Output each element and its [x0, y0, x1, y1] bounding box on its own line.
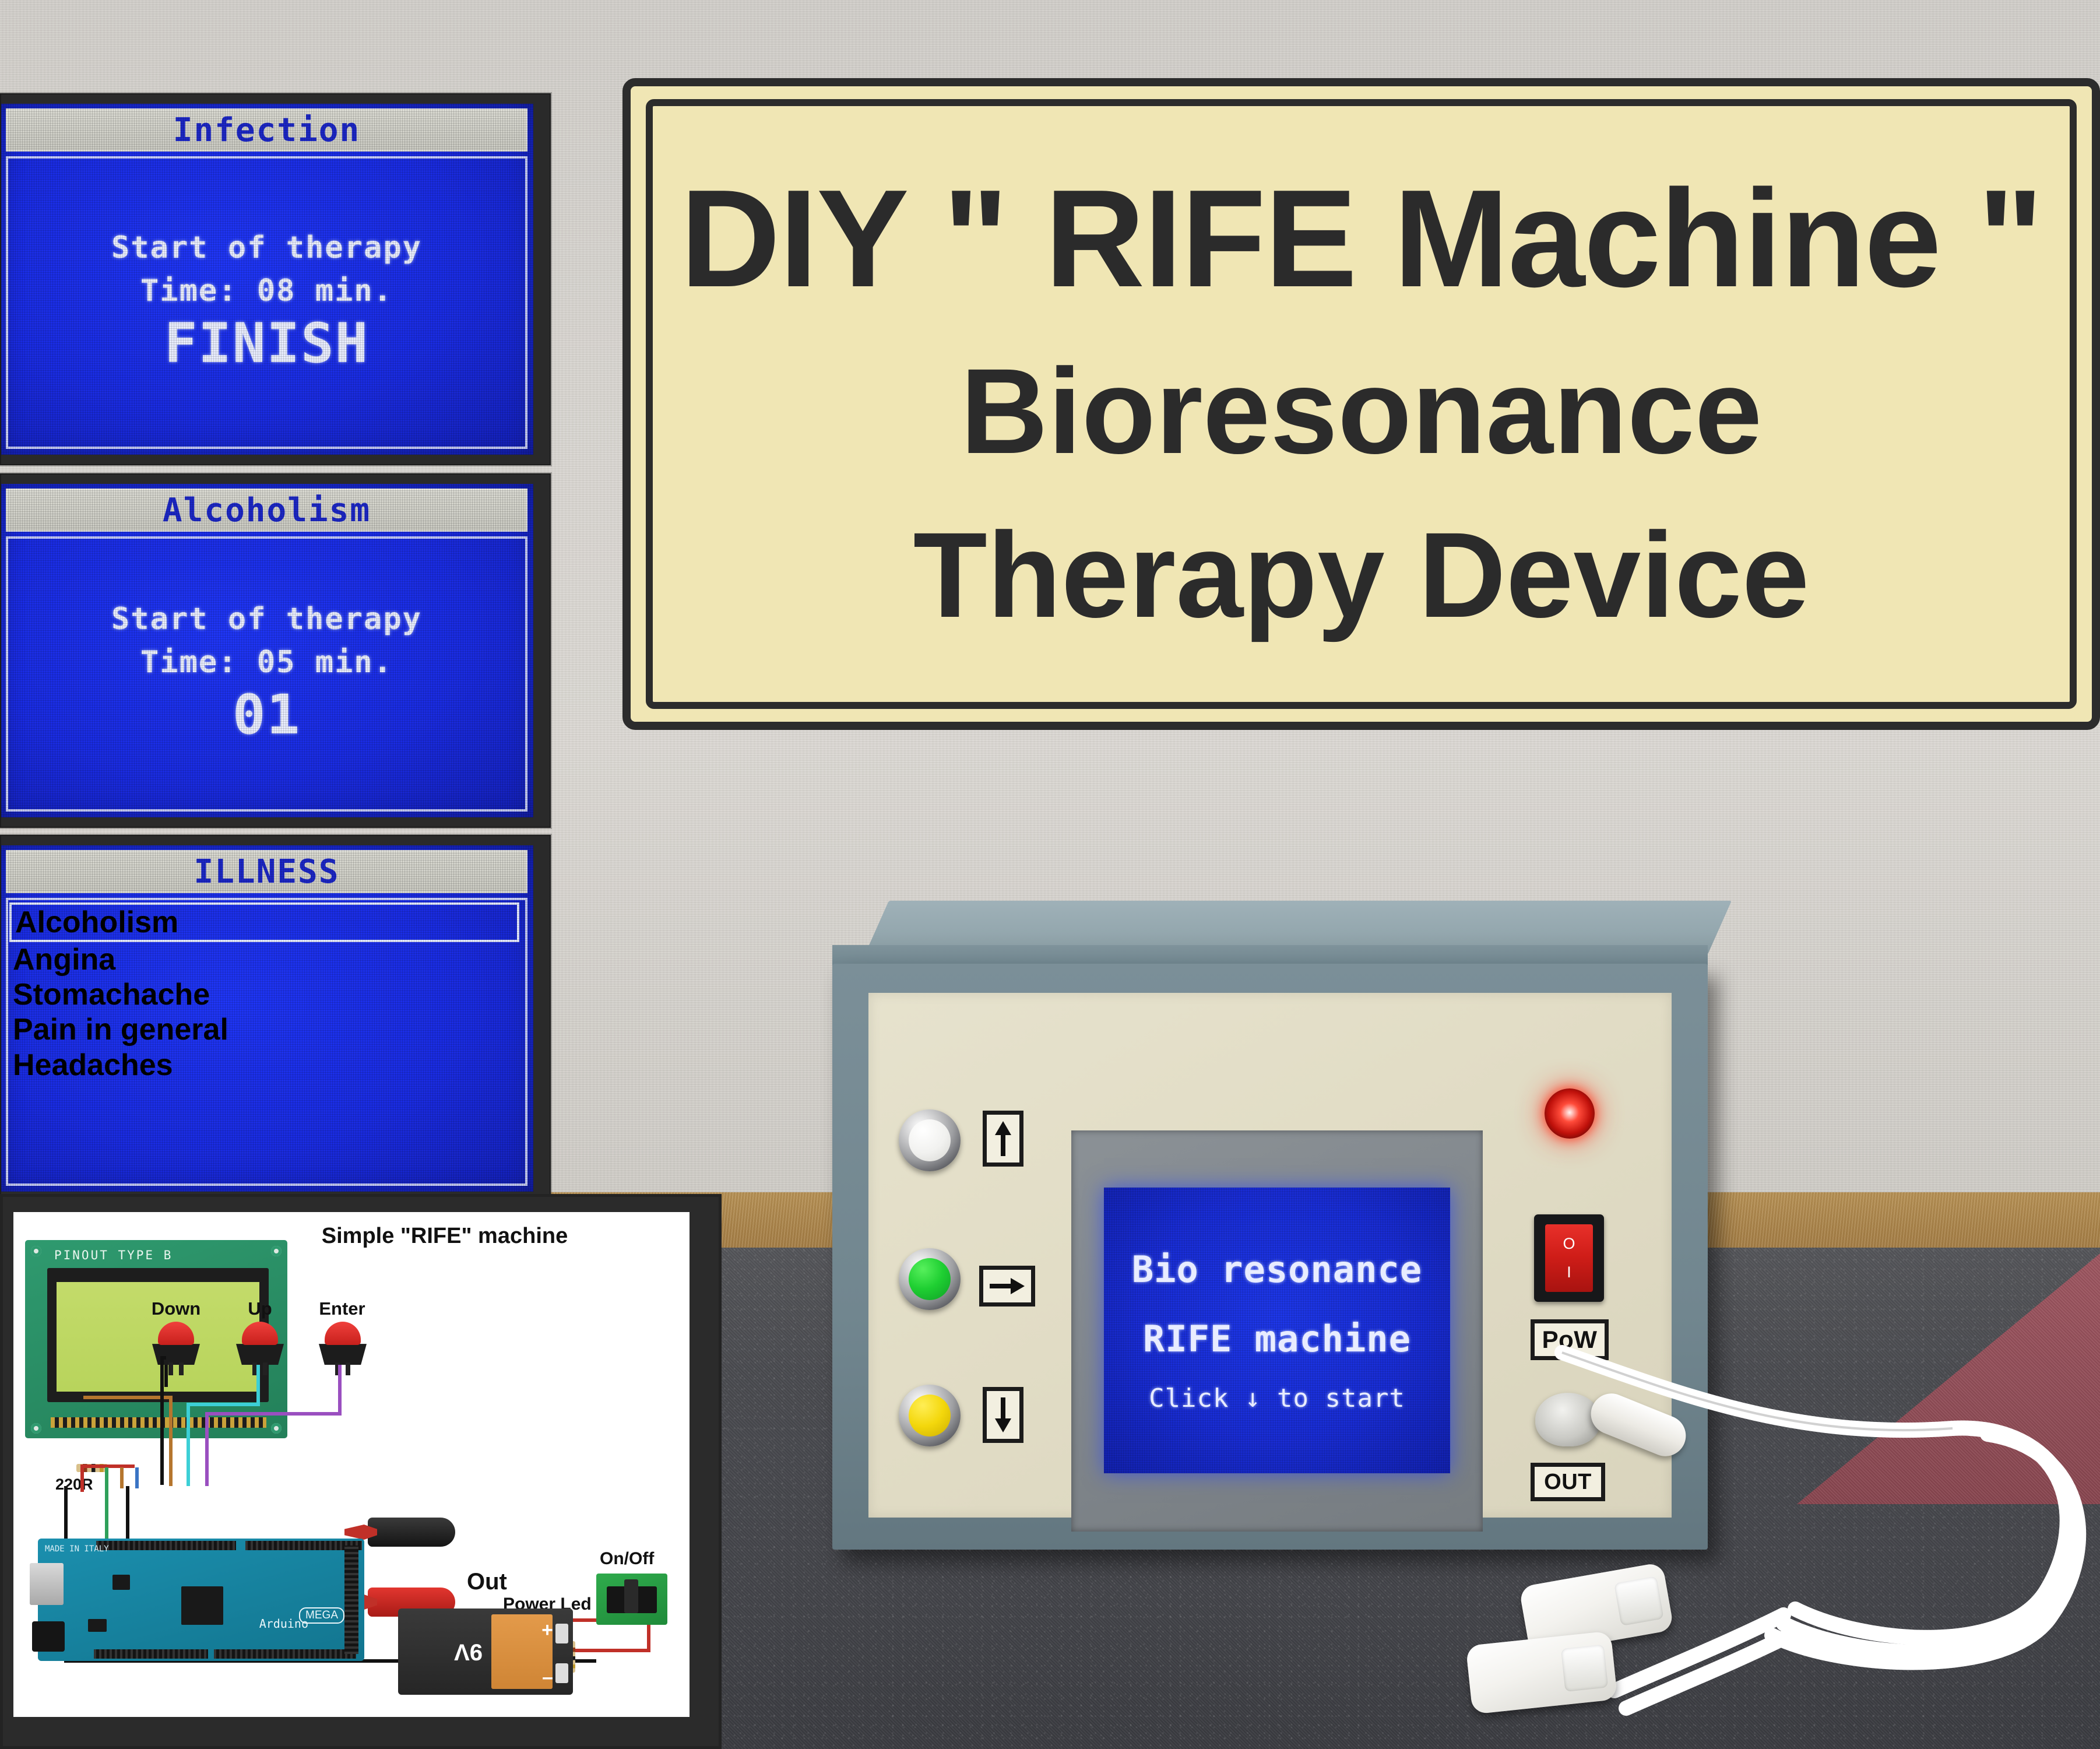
lcd-line-2: RIFE machine [1143, 1318, 1411, 1360]
down-button[interactable] [899, 1385, 961, 1446]
arrow-right-icon [979, 1266, 1035, 1307]
down-button-cap [909, 1395, 951, 1437]
battery-voltage-label: 9V [454, 1639, 483, 1665]
slide-switch-body [607, 1586, 657, 1613]
lcd-panel-line-1: Start of therapy [111, 230, 422, 265]
power-header [94, 1649, 208, 1659]
digital-header-left [96, 1541, 236, 1550]
banner-line-1: DIY " RIFE Machine " [680, 170, 2042, 308]
illness-list: Alcoholism Angina Stomachache Pain in ge… [6, 898, 527, 1186]
on-off-slide-switch[interactable] [596, 1574, 667, 1625]
list-item[interactable]: Stomachache [9, 977, 213, 1012]
usb-connector [30, 1563, 64, 1605]
arduino-mega-board: MADE IN ITALY Arduino MEGA [38, 1539, 364, 1661]
lcd-panel-illness-menu: ILLNESS Alcoholism Angina Stomachache Pa… [0, 835, 551, 1202]
list-item[interactable]: Pain in general [9, 1012, 232, 1047]
battery-terminal [555, 1663, 568, 1683]
rocker-on-mark: I [1567, 1263, 1571, 1281]
up-button-cap [909, 1119, 951, 1161]
enter-button[interactable] [899, 1248, 961, 1310]
lcd-panel-alcoholism: Alcoholism Start of therapy Time: 05 min… [0, 473, 551, 828]
analog-header [214, 1649, 356, 1659]
lcd-panel-line-3: 01 [233, 683, 301, 747]
lcd-panel-title: Infection [6, 108, 527, 152]
banner-line-2: Bioresonance [961, 351, 1763, 472]
list-item[interactable]: Headaches [9, 1048, 177, 1083]
lcd-panel-infection: Infection Start of therapy Time: 08 min.… [0, 93, 551, 465]
rocker-cap: O I [1545, 1224, 1593, 1292]
lcd-panel-title: Alcoholism [6, 489, 527, 532]
lcd-panel-line-3: FINISH [164, 312, 370, 375]
arrow-down-icon [983, 1387, 1023, 1443]
mcu-chip [181, 1586, 223, 1625]
lcd-panel-title: ILLNESS [6, 850, 527, 893]
regulator-chip [88, 1619, 107, 1632]
battery-9v: 9V + – [398, 1608, 573, 1695]
battery-terminal [555, 1624, 568, 1643]
list-item[interactable]: Alcoholism [9, 902, 519, 942]
barrel-jack [32, 1621, 65, 1652]
lcd-line-1: Bio resonance [1132, 1248, 1422, 1291]
wiring-diagram: Simple "RIFE" machine PINOUT TYPE B 220R… [0, 1194, 722, 1749]
enter-button-cap [909, 1258, 951, 1300]
lcd-panel-line-2: Time: 08 min. [140, 273, 393, 308]
rocker-off-mark: O [1563, 1235, 1575, 1253]
digital-block-header [344, 1546, 358, 1654]
arrow-up-icon [983, 1111, 1023, 1167]
wiring-diagram-sheet: Simple "RIFE" machine PINOUT TYPE B 220R… [13, 1212, 690, 1717]
board-model-label: MEGA [299, 1607, 344, 1624]
lcd-panel-body: Start of therapy Time: 05 min. 01 [6, 536, 527, 812]
device-lcd-screen: Bio resonance RIFE machine Click ↓ to st… [1104, 1188, 1450, 1473]
electrode-cable-assembly [1492, 1341, 2100, 1749]
battery-minus-mark: – [542, 1666, 553, 1689]
on-off-label: On/Off [600, 1549, 654, 1569]
title-banner: DIY " RIFE Machine " Bioresonance Therap… [622, 78, 2100, 730]
lcd-line-3: Click ↓ to start [1149, 1383, 1405, 1413]
out-label: Out [467, 1569, 507, 1595]
lcd-panel-body: Start of therapy Time: 08 min. FINISH [6, 156, 527, 449]
banner-line-3: Therapy Device [913, 515, 1810, 636]
slide-switch-lever [624, 1579, 638, 1613]
board-origin-label: MADE IN ITALY [45, 1544, 109, 1555]
lcd-panel-illness-screen: ILLNESS Alcoholism Angina Stomachache Pa… [1, 845, 533, 1192]
device-lcd-bezel: Bio resonance RIFE machine Click ↓ to st… [1071, 1130, 1483, 1532]
lcd-panel-line-2: Time: 05 min. [140, 645, 393, 680]
lcd-panel-line-1: Start of therapy [111, 602, 422, 637]
title-banner-inner: DIY " RIFE Machine " Bioresonance Therap… [646, 99, 2077, 709]
lcd-panel-alcoholism-screen: Alcoholism Start of therapy Time: 05 min… [1, 484, 533, 817]
small-chip [112, 1575, 130, 1590]
up-button[interactable] [899, 1109, 961, 1171]
power-rocker-switch[interactable]: O I [1534, 1214, 1604, 1302]
lcd-panel-infection-screen: Infection Start of therapy Time: 08 min.… [1, 104, 533, 455]
battery-plus-mark: + [541, 1619, 553, 1642]
list-item[interactable]: Angina [9, 942, 119, 977]
clip-jaw [368, 1518, 455, 1547]
power-led-indicator [1545, 1088, 1595, 1139]
